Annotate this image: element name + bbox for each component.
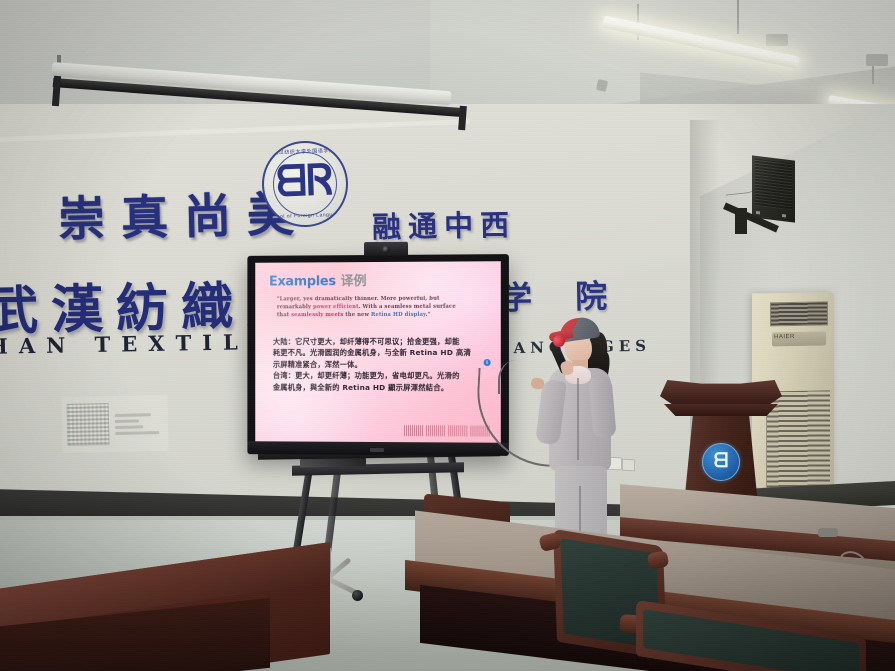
interactive-display[interactable]: Examples译例 "Larger, yes dramatically thi… (247, 254, 509, 456)
podium-university-emblem: ᗺ (702, 443, 740, 481)
presenter-right-arm (588, 375, 616, 439)
wall-college-name-cn: 学 院 (500, 271, 624, 319)
presenter-jacket-zipper (577, 378, 579, 460)
display-brand-logo (370, 448, 384, 452)
display-cable-segment (498, 360, 528, 394)
wall-speaker (752, 155, 795, 222)
floor-stool (818, 528, 838, 537)
ac-top-vent-icon (770, 301, 828, 326)
slide-cn-line-1: 大陆：它尺寸更大，却纤薄得不可思议；拾金更强，却能 (273, 336, 495, 348)
office-chair-caster (352, 590, 363, 601)
slide-title-en: Examples (269, 274, 336, 289)
light-mount (866, 54, 888, 66)
ac-brand-label: HAIER (774, 334, 795, 340)
ac-control-panel[interactable]: HAIER (772, 331, 826, 346)
camera-lens-icon (382, 246, 389, 253)
display-camera-bar (364, 242, 408, 256)
slide-cn-line-4: 台湾：更大，却更纤薄；功能更为，省电却更凡。光滑的 (273, 370, 495, 382)
speaker-badge (782, 214, 786, 217)
display-bezel-bottom (247, 441, 509, 456)
light-suspension-rod (737, 0, 739, 34)
wall-motto-right: 融通中西 (372, 202, 517, 247)
podium-top-surface (660, 380, 782, 406)
slide-title: Examples译例 (269, 270, 367, 289)
qr-poster-text-lines (115, 413, 159, 435)
slide-en-line-3: that seamlessly meets the new Retina HD … (277, 311, 492, 320)
light-mount (766, 34, 788, 46)
qr-code-icon (67, 403, 110, 446)
slide-cn-line-5: 金属机身，與全新的 Retina HD 顯示屏渾然結合。 (273, 381, 495, 393)
university-emblem: 武汉纺织大学外国语学院 ᗺᏒ School of Foreign Languag… (261, 140, 350, 229)
qr-code-poster (61, 395, 168, 453)
speaker-grille-icon (755, 159, 792, 211)
slide-chinese-translation: 大陆：它尺寸更大，却纤薄得不可思议；拾金更强，却能 耗更不凡。光滑圆润的金属机身… (273, 336, 495, 393)
emblem-monogram: ᗺᏒ (263, 159, 346, 204)
display-screen[interactable]: Examples译例 "Larger, yes dramatically thi… (255, 261, 501, 443)
slide-cn-line-3: 示屏精准紧合，浑然一体。 (273, 359, 495, 371)
slide-info-badge[interactable]: i (484, 359, 491, 366)
speaker-badge (756, 211, 760, 214)
podium-emblem-monogram: ᗺ (703, 450, 739, 470)
slide-title-cn: 译例 (341, 274, 367, 289)
slide-footer-watermark (404, 425, 491, 436)
classroom-photo-scene: 崇真尚美 融通中西 武漢紡織大 学 院 HAN TEXTILE UNIVE LA… (0, 0, 895, 671)
slide-cn-line-2: 耗更不凡。光滑圆润的金属机身，与全新 Retina HD 高清 (273, 347, 495, 358)
podium-lip (664, 404, 778, 416)
slide-english-quote: "Larger, yes dramatically thinner. More … (277, 295, 492, 320)
